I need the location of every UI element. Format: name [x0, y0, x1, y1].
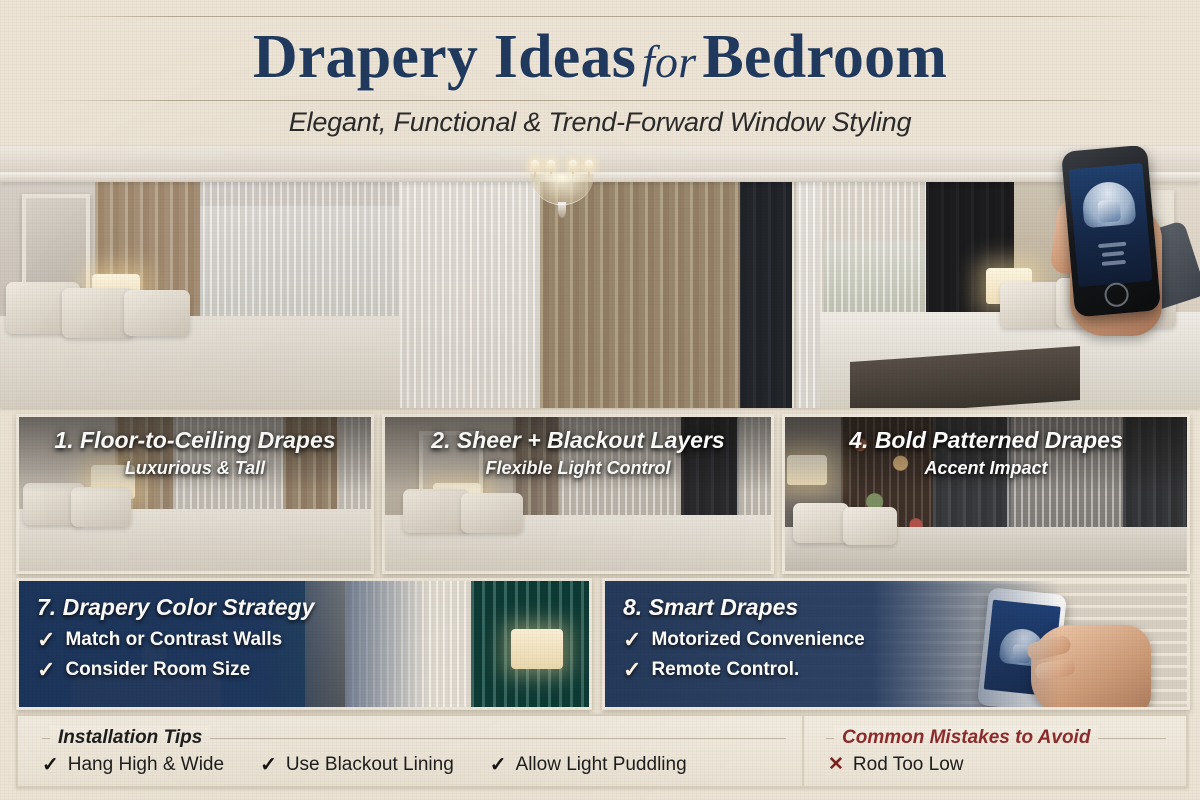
list-item: ✓ Consider Room Size	[37, 655, 314, 685]
panel-content: 7. Drapery Color Strategy ✓ Match or Con…	[19, 581, 314, 685]
card-title: Sheer + Blackout Layers	[457, 427, 725, 453]
smartphone	[1061, 146, 1161, 317]
pillow	[124, 290, 190, 336]
check-icon: ✓	[490, 752, 507, 778]
panel-content: 8. Smart Drapes ✓ Motorized Convenience …	[605, 581, 865, 685]
header-rule-bottom	[36, 100, 1164, 101]
idea-card-2[interactable]: 2. Sheer + Blackout Layers Flexible Ligh…	[382, 414, 774, 574]
idea-card-1[interactable]: 1. Floor-to-Ceiling Drapes Luxurious & T…	[16, 414, 374, 574]
list-item: ✓ Match or Contrast Walls	[37, 625, 314, 655]
hero-pane-center	[400, 146, 820, 408]
list-item-label: Match or Contrast Walls	[65, 625, 282, 655]
tip-label: Allow Light Puddling	[516, 752, 687, 778]
title-for: for	[636, 36, 702, 87]
bed	[0, 316, 400, 408]
panel-number: 7.	[37, 594, 56, 620]
poster-header: Drapery IdeasforBedroom Elegant, Functio…	[0, 0, 1200, 146]
check-icon: ✓	[260, 752, 277, 778]
phone-screen	[1068, 163, 1152, 287]
card-number: 2.	[431, 427, 450, 453]
card-subtitle: Luxurious & Tall	[19, 455, 371, 481]
infographic-poster: Drapery IdeasforBedroom Elegant, Functio…	[0, 0, 1200, 800]
check-icon: ✓	[37, 629, 55, 651]
list-item: ✓ Use Blackout Lining	[260, 752, 454, 778]
card-number: 4.	[849, 427, 868, 453]
tip-label: Use Blackout Lining	[286, 752, 454, 778]
list-item-label: Consider Room Size	[65, 655, 250, 685]
hero-pane-left	[0, 146, 400, 408]
tip-label: Hang High & Wide	[68, 752, 224, 778]
check-icon: ✓	[37, 659, 55, 681]
cornice-molding	[400, 172, 820, 182]
card-caption: 1. Floor-to-Ceiling Drapes Luxurious & T…	[19, 425, 371, 481]
hand-holding-phone	[1038, 146, 1200, 408]
feature-panel-8[interactable]: 8. Smart Drapes ✓ Motorized Convenience …	[602, 578, 1190, 710]
tips-list: ✓ Hang High & Wide ✓ Use Blackout Lining…	[42, 752, 784, 778]
title-part-1: Drapery Ideas	[253, 23, 636, 91]
panel-title: Smart Drapes	[649, 594, 799, 620]
panel-number: 8.	[623, 594, 642, 620]
panel-title: Drapery Color Strategy	[63, 594, 315, 620]
cross-icon: ✕	[828, 752, 844, 778]
hero-image-band	[0, 146, 1200, 408]
card-title: Bold Patterned Drapes	[875, 427, 1123, 453]
card-title: Floor-to-Ceiling Drapes	[80, 427, 336, 453]
cornice-molding	[0, 172, 400, 182]
card-subtitle: Flexible Light Control	[385, 455, 771, 481]
card-caption: 2. Sheer + Blackout Layers Flexible Ligh…	[385, 425, 771, 481]
list-item: ✓ Motorized Convenience	[623, 625, 865, 655]
mistake-label: Rod Too Low	[853, 752, 964, 778]
panel-bullet-list: ✓ Motorized Convenience ✓ Remote Control…	[623, 625, 865, 685]
check-icon: ✓	[42, 752, 59, 778]
sheer-curtain	[792, 178, 820, 408]
dark-drape-panel	[738, 176, 792, 408]
card-caption: 4. Bold Patterned Drapes Accent Impact	[785, 425, 1187, 481]
list-item: ✓ Allow Light Puddling	[490, 752, 687, 778]
card-subtitle: Accent Impact	[785, 455, 1187, 481]
page-subtitle: Elegant, Functional & Trend-Forward Wind…	[0, 106, 1200, 138]
list-item-label: Motorized Convenience	[651, 625, 864, 655]
app-icon-core	[1097, 199, 1121, 223]
list-item: ✓ Hang High & Wide	[42, 752, 224, 778]
feature-panel-7[interactable]: 7. Drapery Color Strategy ✓ Match or Con…	[16, 578, 592, 710]
installation-tips-heading: Installation Tips	[50, 726, 210, 750]
header-rule-top	[36, 16, 1164, 17]
mistakes-list: ✕ Rod Too Low	[828, 752, 1176, 778]
title-part-2: Bedroom	[702, 23, 947, 91]
check-icon: ✓	[623, 659, 641, 681]
list-item: ✓ Remote Control.	[623, 655, 865, 685]
home-button	[1104, 282, 1130, 308]
page-title: Drapery IdeasforBedroom	[0, 21, 1200, 98]
panel-bullet-list: ✓ Match or Contrast Walls ✓ Consider Roo…	[37, 625, 314, 685]
common-mistakes-column: Common Mistakes to Avoid ✕ Rod Too Low	[802, 716, 1186, 786]
list-item-label: Remote Control.	[651, 655, 799, 685]
idea-card-3[interactable]: 4. Bold Patterned Drapes Accent Impact	[782, 414, 1190, 574]
check-icon: ✓	[623, 629, 641, 651]
chandelier-icon	[524, 160, 600, 220]
app-text-lines	[1089, 236, 1138, 274]
card-number: 1.	[54, 427, 73, 453]
installation-tips-column: Installation Tips ✓ Hang High & Wide ✓ U…	[18, 716, 794, 786]
common-mistakes-heading: Common Mistakes to Avoid	[834, 726, 1098, 750]
list-item: ✕ Rod Too Low	[828, 752, 963, 778]
footer-bar: Installation Tips ✓ Hang High & Wide ✓ U…	[16, 714, 1188, 788]
